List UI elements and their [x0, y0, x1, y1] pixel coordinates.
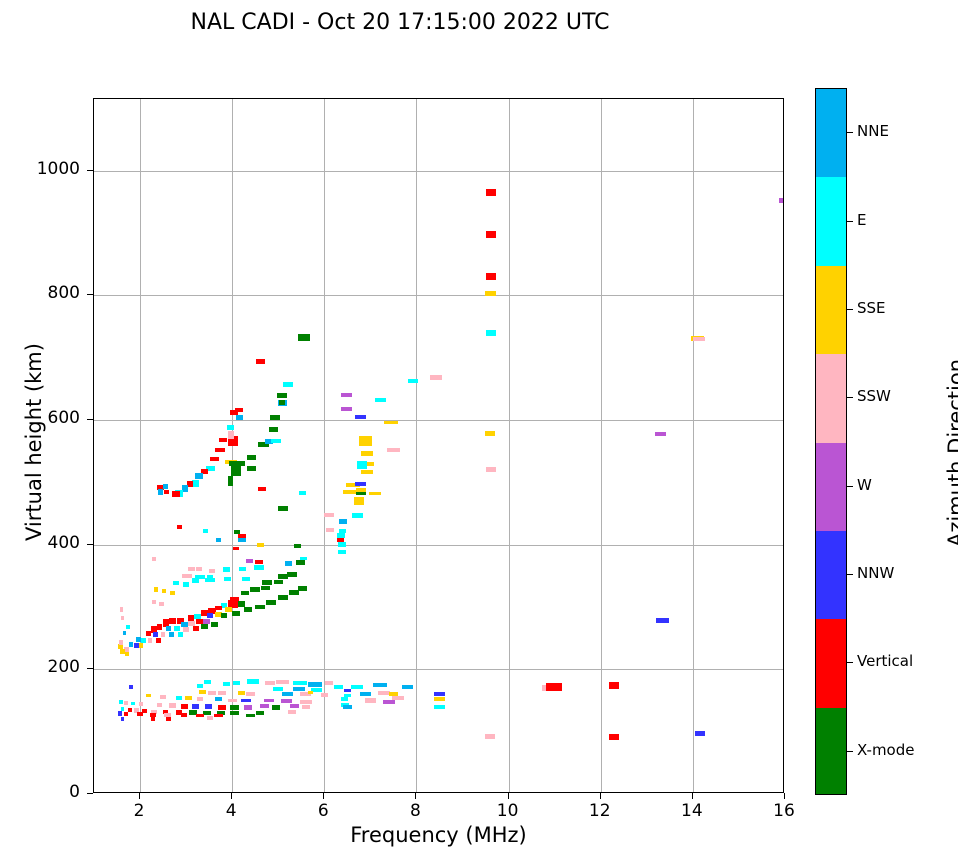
echo-mark — [365, 698, 376, 702]
echo-mark — [485, 431, 495, 436]
echo-mark — [139, 643, 144, 647]
echo-mark — [369, 492, 381, 496]
echo-mark — [192, 704, 199, 709]
y-tick — [87, 294, 93, 295]
y-axis-label: Virtual height (km) — [22, 292, 46, 592]
echo-mark — [373, 683, 387, 687]
echo-mark — [235, 408, 243, 412]
echo-mark — [233, 547, 239, 551]
x-tick-label: 6 — [303, 801, 343, 821]
colorbar-tick — [847, 221, 853, 222]
echo-mark — [244, 607, 252, 612]
echo-mark — [693, 337, 705, 341]
echo-mark — [169, 703, 175, 707]
colorbar-segment-sse[interactable] — [816, 266, 846, 354]
echo-mark — [119, 700, 123, 704]
echo-mark — [216, 538, 221, 542]
echo-mark — [121, 717, 125, 721]
echo-mark — [228, 436, 234, 440]
echo-mark — [152, 557, 156, 561]
echo-mark — [228, 476, 234, 486]
echo-mark — [655, 432, 666, 436]
echo-mark — [121, 616, 125, 620]
echo-mark — [383, 700, 395, 704]
echo-mark — [238, 691, 245, 695]
echo-mark — [260, 704, 268, 708]
echo-mark — [326, 528, 334, 532]
echo-mark — [244, 705, 252, 710]
echo-mark — [164, 713, 170, 717]
echo-mark — [294, 544, 301, 548]
echo-mark — [197, 697, 203, 701]
echo-mark — [290, 704, 298, 708]
azimuth-colorbar[interactable] — [815, 88, 847, 795]
echo-mark — [166, 626, 172, 631]
echo-mark — [123, 631, 127, 635]
echo-mark — [157, 624, 163, 630]
colorbar-segment-x-mode[interactable] — [816, 708, 846, 795]
echo-mark — [183, 627, 189, 632]
x-tick-label: 14 — [672, 801, 712, 821]
echo-mark — [215, 697, 222, 701]
echo-mark — [339, 519, 347, 525]
echo-mark — [282, 692, 293, 696]
echo-mark — [324, 513, 333, 517]
echo-mark — [296, 560, 305, 565]
echo-mark — [223, 682, 229, 686]
echo-mark — [343, 705, 351, 709]
echo-mark — [341, 407, 351, 411]
echo-mark — [169, 618, 175, 624]
gridline-horizontal — [94, 171, 783, 172]
echo-mark — [255, 560, 262, 564]
echo-mark — [278, 506, 288, 512]
echo-mark — [486, 231, 496, 238]
echo-mark — [241, 699, 250, 703]
echo-mark — [233, 681, 240, 685]
x-tick — [415, 793, 416, 799]
echo-mark — [247, 455, 256, 460]
echo-mark — [128, 708, 132, 712]
echo-mark — [205, 578, 214, 582]
echo-mark — [277, 393, 286, 398]
chart-title: NAL CADI - Oct 20 17:15:00 2022 UTC — [0, 10, 800, 35]
echo-mark — [221, 613, 227, 618]
echo-mark — [256, 359, 265, 364]
y-tick — [87, 668, 93, 669]
echo-mark — [195, 473, 203, 479]
echo-mark — [289, 590, 299, 595]
echo-mark — [215, 606, 222, 610]
colorbar-tick — [847, 132, 853, 133]
y-tick-label: 200 — [10, 657, 80, 677]
echo-mark — [166, 717, 172, 721]
echo-mark — [164, 490, 169, 494]
echo-mark — [392, 696, 404, 700]
echo-mark — [170, 591, 176, 595]
echo-mark — [172, 491, 179, 497]
echo-mark — [227, 425, 233, 430]
echo-mark — [486, 189, 496, 196]
gridline-horizontal — [94, 669, 783, 670]
echo-mark — [344, 689, 351, 693]
echo-mark — [196, 567, 202, 571]
colorbar-tick — [847, 574, 853, 575]
echo-mark — [250, 587, 260, 592]
echo-mark — [279, 400, 285, 405]
echo-mark — [352, 513, 362, 519]
colorbar-tick — [847, 397, 853, 398]
echo-mark — [258, 487, 265, 491]
colorbar-label-x-mode: X-mode — [857, 741, 914, 759]
colorbar-label-sse: SSE — [857, 299, 886, 317]
colorbar-tick — [847, 309, 853, 310]
echo-mark — [209, 569, 215, 573]
echo-mark — [485, 734, 495, 739]
plot-area[interactable] — [93, 98, 784, 793]
colorbar-label-ssw: SSW — [857, 387, 891, 405]
colorbar-tick — [847, 662, 853, 663]
echo-mark — [351, 685, 363, 689]
echo-mark — [173, 581, 179, 585]
colorbar-segment-ssw[interactable] — [816, 354, 846, 442]
echo-mark — [124, 712, 128, 716]
echo-mark — [230, 711, 238, 715]
echo-mark — [203, 711, 210, 715]
colorbar-title: Azimuth Direction — [944, 303, 958, 603]
echo-mark — [338, 542, 345, 546]
gridline-horizontal — [94, 545, 783, 546]
echo-mark — [158, 489, 164, 495]
echo-mark — [384, 421, 398, 425]
echo-mark — [656, 618, 669, 623]
echo-mark — [161, 632, 166, 637]
echo-mark — [141, 638, 146, 643]
echo-mark — [181, 704, 187, 709]
y-tick — [87, 793, 93, 794]
gridline-vertical — [140, 99, 141, 792]
echo-mark — [288, 710, 295, 714]
echo-mark — [285, 561, 292, 565]
x-tick-label: 16 — [764, 801, 804, 821]
echo-mark — [218, 691, 225, 695]
echo-mark — [157, 703, 163, 707]
echo-mark — [193, 626, 199, 631]
echo-mark — [239, 567, 245, 571]
echo-mark — [159, 602, 164, 606]
colorbar-segment-nnw[interactable] — [816, 531, 846, 619]
x-tick — [323, 793, 324, 799]
echo-mark — [408, 379, 418, 383]
echo-mark — [207, 716, 213, 720]
echo-mark — [298, 334, 310, 341]
echo-mark — [269, 427, 278, 432]
echo-mark — [176, 696, 182, 700]
echo-mark — [241, 591, 249, 595]
echo-mark — [695, 731, 705, 736]
echo-mark — [434, 697, 444, 701]
echo-mark — [214, 714, 222, 718]
echo-mark — [254, 565, 263, 570]
echo-mark — [234, 530, 240, 534]
echo-mark — [197, 684, 203, 688]
x-tick — [231, 793, 232, 799]
echo-mark — [338, 550, 345, 554]
echo-mark — [210, 457, 219, 461]
echo-mark — [215, 448, 225, 452]
echo-mark — [160, 695, 166, 699]
colorbar-label-nnw: NNW — [857, 564, 894, 582]
echo-mark — [302, 705, 310, 709]
echo-mark — [361, 451, 373, 455]
echo-mark — [276, 680, 289, 684]
echo-mark — [211, 622, 217, 627]
echo-mark — [154, 587, 159, 591]
echo-mark — [230, 705, 238, 710]
gridline-vertical — [601, 99, 602, 792]
echo-mark — [486, 330, 496, 336]
echo-mark — [119, 640, 123, 644]
x-tick-label: 12 — [580, 801, 620, 821]
echo-mark — [246, 714, 254, 718]
colorbar-segment-nne[interactable] — [816, 89, 846, 177]
echo-mark — [124, 701, 128, 705]
echo-mark — [293, 681, 307, 685]
echo-mark — [120, 607, 124, 611]
x-tick-label: 10 — [488, 801, 528, 821]
echo-mark — [247, 466, 256, 471]
echo-mark — [246, 692, 255, 696]
y-tick — [87, 544, 93, 545]
gridline-vertical — [416, 99, 417, 792]
echo-mark — [283, 382, 293, 386]
echo-mark — [265, 681, 274, 685]
echo-mark — [199, 690, 206, 694]
echo-mark — [308, 682, 322, 687]
x-tick — [139, 793, 140, 799]
echo-mark — [232, 611, 240, 616]
echo-mark — [375, 398, 385, 402]
echo-mark — [207, 613, 213, 618]
echo-mark — [546, 683, 562, 690]
echo-mark — [177, 525, 182, 529]
echo-mark — [182, 574, 192, 578]
echo-mark — [354, 497, 364, 505]
echo-mark — [125, 652, 130, 656]
echo-mark — [281, 699, 291, 703]
gridline-vertical — [693, 99, 694, 792]
echo-mark — [360, 692, 371, 696]
echo-mark — [238, 534, 246, 538]
echo-mark — [266, 600, 276, 606]
echo-mark — [136, 637, 141, 642]
echo-mark — [169, 632, 175, 637]
echo-mark — [196, 714, 203, 718]
x-tick — [784, 793, 785, 799]
x-tick-label: 4 — [211, 801, 251, 821]
echo-mark — [174, 626, 180, 631]
echo-mark — [779, 198, 784, 202]
echo-mark — [387, 448, 401, 452]
echo-mark — [150, 713, 156, 717]
echo-mark — [355, 482, 366, 486]
y-tick-label: 0 — [10, 782, 80, 802]
echo-mark — [402, 685, 413, 689]
x-axis-label: Frequency (MHz) — [93, 823, 784, 847]
ionogram-figure: NAL CADI - Oct 20 17:15:00 2022 UTC 2468… — [0, 0, 958, 857]
echo-mark — [434, 705, 444, 709]
gridline-horizontal — [94, 420, 783, 421]
colorbar-label-vertical: Vertical — [857, 652, 913, 670]
x-tick-label: 2 — [119, 801, 159, 821]
echo-mark — [321, 693, 328, 697]
echo-mark — [129, 642, 134, 647]
echo-mark — [131, 702, 136, 706]
echo-mark — [262, 580, 272, 585]
echo-mark — [118, 711, 122, 715]
echo-mark — [357, 461, 367, 468]
echo-mark — [609, 682, 619, 689]
echo-mark — [278, 595, 288, 601]
x-tick — [508, 793, 509, 799]
echo-mark — [355, 415, 366, 419]
echo-mark — [231, 466, 241, 476]
echo-mark — [341, 393, 352, 397]
echo-mark — [181, 713, 187, 717]
echo-mark — [178, 632, 184, 636]
echo-mark — [185, 696, 191, 700]
colorbar-segment-vertical[interactable] — [816, 619, 846, 707]
echo-mark — [337, 538, 344, 542]
colorbar-label-w: W — [857, 476, 872, 494]
echo-mark — [430, 375, 442, 379]
echo-mark — [247, 679, 259, 684]
echo-mark — [139, 702, 144, 706]
echo-mark — [486, 273, 496, 280]
echo-mark — [188, 567, 195, 571]
echo-mark — [308, 691, 313, 695]
echo-mark — [218, 705, 226, 710]
echo-mark — [261, 586, 270, 590]
echo-mark — [162, 589, 167, 593]
x-tick — [600, 793, 601, 799]
echo-mark — [183, 582, 189, 586]
echo-mark — [148, 638, 153, 642]
echo-mark — [151, 717, 156, 721]
echo-mark — [236, 415, 243, 421]
echo-mark — [361, 470, 373, 474]
echo-mark — [300, 700, 312, 704]
echo-mark — [146, 694, 151, 698]
echo-mark — [434, 692, 444, 696]
echo-mark — [142, 709, 147, 713]
echo-mark — [204, 680, 211, 684]
echo-mark — [485, 291, 496, 297]
echo-mark — [270, 415, 280, 421]
y-tick — [87, 419, 93, 420]
echo-mark — [219, 438, 227, 442]
colorbar-tick — [847, 751, 853, 752]
colorbar-segment-e[interactable] — [816, 177, 846, 265]
x-tick — [692, 793, 693, 799]
echo-mark — [246, 559, 252, 563]
echo-mark — [208, 691, 215, 695]
echo-mark — [389, 692, 398, 696]
echo-mark — [228, 699, 237, 703]
colorbar-label-e: E — [857, 211, 866, 229]
echo-mark — [229, 461, 246, 466]
echo-mark — [274, 580, 283, 584]
echo-mark — [137, 712, 143, 716]
echo-mark — [356, 492, 366, 496]
echo-mark — [293, 687, 306, 691]
colorbar-segment-w[interactable] — [816, 443, 846, 531]
gridline-vertical — [509, 99, 510, 792]
echo-mark — [146, 631, 151, 636]
echo-mark — [223, 567, 230, 571]
echo-mark — [163, 484, 169, 489]
echo-mark — [192, 578, 198, 583]
gridline-vertical — [324, 99, 325, 792]
colorbar-tick — [847, 486, 853, 487]
echo-mark — [359, 436, 372, 446]
echo-mark — [203, 619, 209, 623]
echo-mark — [126, 625, 130, 629]
x-tick-label: 8 — [395, 801, 435, 821]
echo-mark — [298, 586, 307, 591]
echo-mark — [273, 687, 283, 691]
echo-mark — [271, 439, 280, 443]
echo-mark — [242, 577, 249, 581]
echo-mark — [341, 697, 347, 701]
echo-mark — [156, 638, 161, 642]
echo-mark — [486, 467, 496, 472]
y-tick-label: 1000 — [10, 159, 80, 179]
echo-mark — [264, 699, 273, 703]
colorbar-label-nne: NNE — [857, 122, 889, 140]
echo-mark — [272, 705, 280, 709]
echo-mark — [299, 491, 306, 495]
echo-mark — [255, 605, 265, 610]
echo-mark — [224, 577, 231, 581]
echo-mark — [203, 529, 208, 533]
echo-mark — [343, 490, 356, 494]
echo-mark — [287, 572, 297, 577]
gridline-horizontal — [94, 295, 783, 296]
echo-mark — [201, 624, 207, 629]
echo-mark — [153, 632, 158, 637]
echo-mark — [129, 685, 133, 689]
echo-mark — [609, 734, 619, 740]
echo-mark — [257, 543, 264, 547]
echo-mark — [256, 711, 264, 715]
y-tick — [87, 170, 93, 171]
echo-mark — [205, 704, 212, 709]
echo-mark — [334, 685, 343, 689]
echo-mark — [194, 614, 200, 619]
echo-mark — [325, 681, 332, 685]
echo-mark — [152, 600, 157, 604]
